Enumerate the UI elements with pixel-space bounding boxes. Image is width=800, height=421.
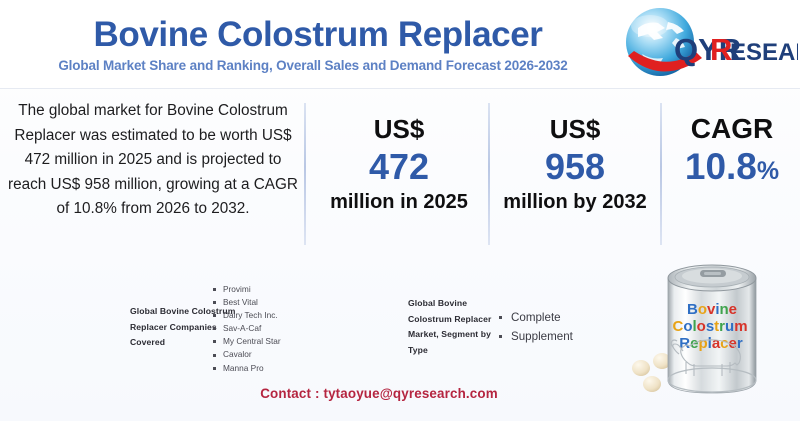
qyresearch-logo[interactable]: QYR R ESEARCH (612, 2, 798, 86)
stat-value: 958 (496, 145, 654, 189)
list-item: Complete (498, 308, 573, 327)
contact-email-text[interactable]: Contact : tytaoyue@qyresearch.com (260, 386, 540, 401)
contact-line[interactable]: Contact : tytaoyue@qyresearch.com (0, 386, 800, 401)
cagr-number: 10.8 (685, 146, 757, 187)
list-item: Sav-A-Caf (212, 322, 281, 335)
can-label-line3: Replacer (679, 335, 743, 352)
stat-value: 472 (316, 145, 482, 189)
list-item: Supplement (498, 327, 573, 346)
divider-1 (304, 103, 306, 245)
page-subtitle: Global Market Share and Ranking, Overall… (8, 58, 618, 73)
stat-currency-label: US$ (496, 113, 654, 145)
list-item: My Central Star (212, 335, 281, 348)
stat-cagr: CAGR 10.8% (666, 113, 798, 193)
cagr-percent-sign: % (757, 157, 779, 185)
stat-currency-label: US$ (316, 113, 482, 145)
page-title: Bovine Colostrum Replacer (28, 14, 608, 56)
divider-2 (488, 103, 490, 245)
infographic-root: Bovine Colostrum Replacer Global Market … (0, 0, 800, 421)
market-summary-text: The global market for Bovine Colostrum R… (8, 99, 298, 222)
stats-band: The global market for Bovine Colostrum R… (0, 89, 800, 257)
logo-wordmark: R ESEARCH (612, 2, 798, 86)
list-item: Dairy Tech Inc. (212, 309, 281, 322)
list-item: Manna Pro (212, 362, 281, 375)
list-item: Cavalor (212, 348, 281, 361)
can-label-line2: Colostrum (672, 318, 747, 335)
stat-cagr-value: 10.8% (666, 145, 798, 193)
stat-cagr-label: CAGR (666, 113, 798, 145)
stat-market-size-2025: US$ 472 million in 2025 (316, 113, 482, 215)
pellet (632, 360, 650, 376)
list-item: Best Vital (212, 296, 281, 309)
divider-3 (660, 103, 662, 245)
stat-market-size-2032: US$ 958 million by 2032 (496, 113, 654, 215)
segment-by-type-list: Complete Supplement (498, 308, 573, 346)
segment-by-type-label: Global Bovine Colostrum Replacer Market,… (408, 296, 496, 358)
can-label-line1: Bovine (687, 301, 737, 318)
stat-caption: million by 2032 (496, 189, 654, 215)
list-item: Provimi (212, 283, 281, 296)
companies-covered-list: Provimi Best Vital Dairy Tech Inc. Sav-A… (212, 283, 281, 375)
logo-esearch-text: ESEARCH (730, 39, 798, 66)
header: Bovine Colostrum Replacer Global Market … (0, 0, 800, 89)
stat-caption: million in 2025 (316, 189, 482, 215)
